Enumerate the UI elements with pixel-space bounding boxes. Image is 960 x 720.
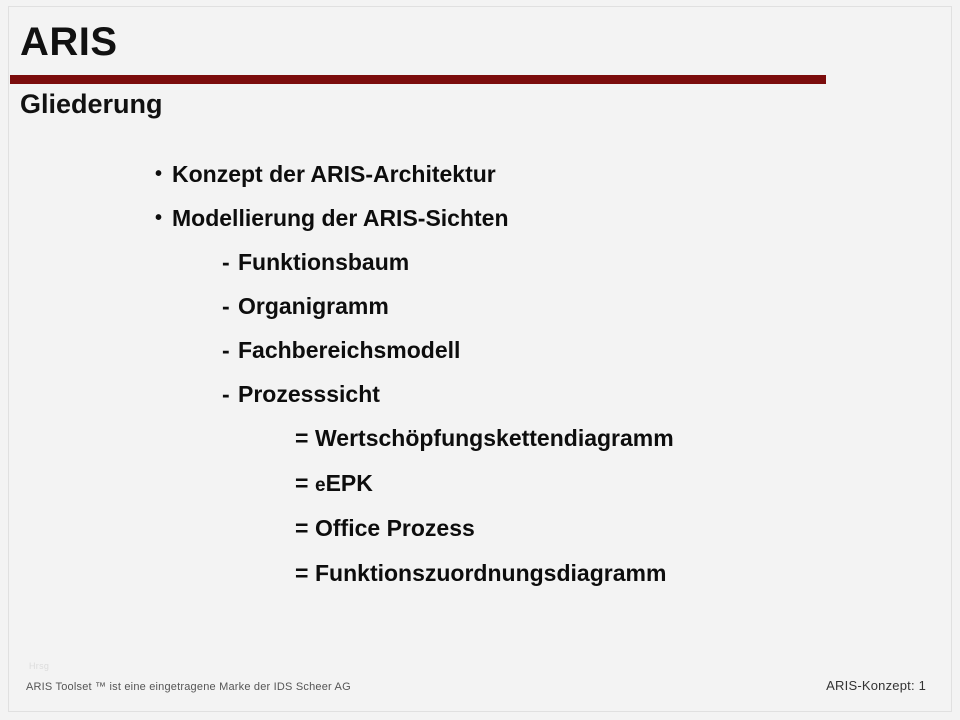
outline-marker-icon: • <box>155 196 172 240</box>
outline-item: •Modellierung der ARIS-Sichten <box>0 196 960 240</box>
outline-item-label: Konzept der ARIS-Architektur <box>172 152 496 196</box>
outline-item-label: Organigramm <box>238 284 389 328</box>
footer-legal-notice: ARIS Toolset ™ ist eine eingetragene Mar… <box>26 681 351 693</box>
outline-item-label: Fachbereichsmodell <box>238 328 460 372</box>
outline-marker-icon: - <box>222 328 238 372</box>
outline-item: -Prozesssicht <box>0 372 960 416</box>
slide: ARIS Gliederung •Konzept der ARIS-Archit… <box>0 0 960 720</box>
outline-item: =eEPK <box>0 461 960 506</box>
outline-item: •Konzept der ARIS-Architektur <box>0 152 960 196</box>
title-accent-rule <box>10 75 826 84</box>
outline-item-label: Office Prozess <box>315 506 475 551</box>
footer-page-number: ARIS-Konzept: 1 <box>826 678 926 693</box>
outline-item: =Office Prozess <box>0 506 960 551</box>
outline-item: -Fachbereichsmodell <box>0 328 960 372</box>
outline-item-label: Prozesssicht <box>238 372 380 416</box>
outline-item-label: Funktionszuordnungsdiagramm <box>315 551 666 596</box>
outline-marker-icon: = <box>295 506 315 551</box>
outline-item-label: Wertschöpfungskettendiagramm <box>315 416 674 461</box>
slide-subtitle: Gliederung <box>20 90 163 120</box>
outline-marker-icon: - <box>222 240 238 284</box>
outline-marker-icon: - <box>222 284 238 328</box>
outline-item: =Funktionszuordnungsdiagramm <box>0 551 960 596</box>
page-title: ARIS <box>20 22 118 62</box>
footer-watermark: Hrsg <box>29 661 49 671</box>
outline-item: -Organigramm <box>0 284 960 328</box>
outline-marker-icon: • <box>155 152 172 196</box>
outline-item-label: eEPK <box>315 461 373 508</box>
outline-item: =Wertschöpfungskettendiagramm <box>0 416 960 461</box>
outline-marker-icon: = <box>295 551 315 596</box>
outline-marker-icon: = <box>295 461 315 506</box>
outline-marker-icon: = <box>295 416 315 461</box>
outline-item-label: Modellierung der ARIS-Sichten <box>172 196 509 240</box>
outline-marker-icon: - <box>222 372 238 416</box>
outline-item-label: Funktionsbaum <box>238 240 409 284</box>
outline-item: -Funktionsbaum <box>0 240 960 284</box>
outline-list: •Konzept der ARIS-Architektur•Modellieru… <box>0 152 960 596</box>
